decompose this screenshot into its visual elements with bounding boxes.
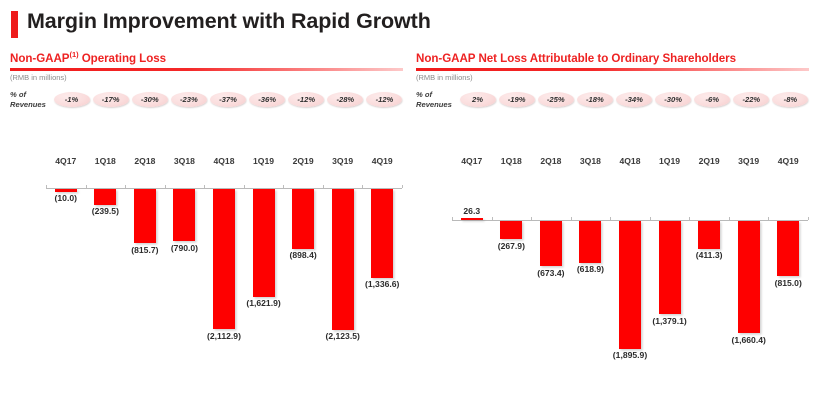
quarter-label-row-right: 4Q171Q182Q183Q184Q181Q192Q193Q194Q19 <box>416 156 816 170</box>
bar-left-4q17 <box>55 189 77 192</box>
pct-badge-right-4q19: -8% <box>772 92 808 107</box>
bar-value-left-3q18: (790.0) <box>151 243 217 253</box>
bar-right-4q19 <box>777 221 799 276</box>
bar-value-left-4q17: (10.0) <box>33 193 99 203</box>
axis-tick <box>531 217 532 220</box>
footnote-marker: (1) <box>70 50 79 59</box>
pct-badge-right-4q17: 2% <box>460 92 496 107</box>
bar-left-2q18 <box>134 189 156 243</box>
panel-units-operating-loss: (RMB in millions) <box>10 73 67 82</box>
quarter-label-3q18: 3Q18 <box>571 156 611 166</box>
axis-tick <box>808 217 809 220</box>
panel-title-main: Non-GAAP Net Loss Attributable to Ordina… <box>416 52 736 65</box>
quarter-label-1q18: 1Q18 <box>492 156 532 166</box>
pct-badge-left-2q18: -30% <box>132 92 168 107</box>
axis-tick <box>729 217 730 220</box>
panel-title-main: Non-GAAP <box>10 52 70 65</box>
bar-right-4q18 <box>619 221 641 349</box>
pct-badge-left-4q18: -37% <box>210 92 246 107</box>
bar-value-left-1q18: (239.5) <box>72 206 138 216</box>
bar-value-left-4q19: (1,336.6) <box>349 279 415 289</box>
bar-left-4q19 <box>371 189 393 278</box>
axis-tick <box>452 217 453 220</box>
pct-badge-right-3q19: -22% <box>733 92 769 107</box>
pct-badge-row-left: -1%-17%-30%-23%-37%-36%-12%-28%-12% <box>52 90 404 110</box>
quarter-label-4q17: 4Q17 <box>452 156 492 166</box>
quarter-label-2q19: 2Q19 <box>689 156 729 166</box>
bar-left-2q19 <box>292 189 314 249</box>
quarter-label-4q18: 4Q18 <box>204 156 244 166</box>
axis-tick <box>165 185 166 188</box>
title-accent-bar <box>11 11 18 38</box>
panel-title-net-loss: Non-GAAP Net Loss Attributable to Ordina… <box>416 52 736 65</box>
bar-right-4q17 <box>461 218 483 221</box>
pct-label-line1: % of <box>10 90 26 99</box>
bar-left-3q19 <box>332 189 354 330</box>
bar-value-left-4q18: (2,112.9) <box>191 331 257 341</box>
page-title: Margin Improvement with Rapid Growth <box>27 9 431 34</box>
pct-badge-right-1q19: -30% <box>655 92 691 107</box>
axis-tick <box>86 185 87 188</box>
quarter-label-4q19: 4Q19 <box>362 156 402 166</box>
axis-tick <box>650 217 651 220</box>
pct-badge-right-2q18: -25% <box>538 92 574 107</box>
quarter-label-2q18: 2Q18 <box>125 156 165 166</box>
panel-title-rest: Operating Loss <box>79 52 167 65</box>
bar-value-right-4q18: (1,895.9) <box>597 350 663 360</box>
pct-of-revenues-label-right: % of Revenues <box>416 90 452 110</box>
bar-value-left-1q19: (1,621.9) <box>231 298 297 308</box>
pct-badge-left-4q19: -12% <box>366 92 402 107</box>
bar-right-2q18 <box>540 221 562 266</box>
quarter-label-1q19: 1Q19 <box>244 156 284 166</box>
bar-value-right-4q17: 26.3 <box>439 206 505 216</box>
pct-badge-right-2q19: -6% <box>694 92 730 107</box>
bar-left-4q18 <box>213 189 235 329</box>
bar-right-2q19 <box>698 221 720 249</box>
pct-label-line2: Revenues <box>416 100 452 109</box>
axis-tick <box>204 185 205 188</box>
panel-operating-loss: Non-GAAP(1) Operating Loss (RMB in milli… <box>10 52 410 402</box>
bar-right-1q18 <box>500 221 522 239</box>
panel-units-net-loss: (RMB in millions) <box>416 73 473 82</box>
quarter-label-2q19: 2Q19 <box>283 156 323 166</box>
quarter-label-2q18: 2Q18 <box>531 156 571 166</box>
slide-header: Margin Improvement with Rapid Growth <box>0 0 827 46</box>
pct-badge-left-3q18: -23% <box>171 92 207 107</box>
panel-title-operating-loss: Non-GAAP(1) Operating Loss <box>10 52 166 65</box>
pct-badge-right-3q18: -18% <box>577 92 613 107</box>
quarter-label-3q19: 3Q19 <box>323 156 363 166</box>
quarter-label-4q17: 4Q17 <box>46 156 86 166</box>
axis-tick <box>689 217 690 220</box>
pct-badge-row-right: 2%-19%-25%-18%-34%-30%-6%-22%-8% <box>458 90 810 110</box>
pct-badge-left-1q18: -17% <box>93 92 129 107</box>
bar-value-right-2q19: (411.3) <box>676 250 742 260</box>
bar-value-right-4q19: (815.0) <box>755 278 821 288</box>
quarter-label-3q18: 3Q18 <box>165 156 205 166</box>
axis-tick <box>46 185 47 188</box>
bar-value-right-3q19: (1,660.4) <box>716 335 782 345</box>
quarter-label-4q19: 4Q19 <box>768 156 808 166</box>
panel-title-underline <box>10 68 403 71</box>
bar-value-right-1q19: (1,379.1) <box>637 316 703 326</box>
bar-left-1q19 <box>253 189 275 297</box>
bar-value-right-3q18: (618.9) <box>557 264 623 274</box>
quarter-label-4q18: 4Q18 <box>610 156 650 166</box>
axis-tick <box>244 185 245 188</box>
bar-value-left-3q19: (2,123.5) <box>310 331 376 341</box>
pct-badge-right-4q18: -34% <box>616 92 652 107</box>
bar-left-3q18 <box>173 189 195 241</box>
pct-badge-right-1q18: -19% <box>499 92 535 107</box>
bar-value-left-2q19: (898.4) <box>270 250 336 260</box>
pct-badge-left-2q19: -12% <box>288 92 324 107</box>
panel-net-loss: Non-GAAP Net Loss Attributable to Ordina… <box>416 52 816 402</box>
quarter-label-1q19: 1Q19 <box>650 156 690 166</box>
quarter-label-3q19: 3Q19 <box>729 156 769 166</box>
bar-value-right-1q18: (267.9) <box>478 241 544 251</box>
pct-badge-left-1q19: -36% <box>249 92 285 107</box>
pct-label-line2: Revenues <box>10 100 46 109</box>
quarter-label-1q18: 1Q18 <box>86 156 126 166</box>
quarter-label-row-left: 4Q171Q182Q183Q184Q181Q192Q193Q194Q19 <box>10 156 410 170</box>
axis-tick <box>362 185 363 188</box>
axis-tick <box>768 217 769 220</box>
bar-right-3q18 <box>579 221 601 263</box>
pct-label-line1: % of <box>416 90 432 99</box>
pct-of-revenues-label-left: % of Revenues <box>10 90 46 110</box>
axis-tick <box>610 217 611 220</box>
chart-operating-loss: 4Q171Q182Q183Q184Q181Q192Q193Q194Q19(10.… <box>10 156 410 402</box>
axis-tick <box>125 185 126 188</box>
axis-tick <box>323 185 324 188</box>
axis-tick <box>283 185 284 188</box>
bar-left-1q18 <box>94 189 116 205</box>
axis-tick <box>402 185 403 188</box>
pct-badge-left-4q17: -1% <box>54 92 90 107</box>
panel-title-underline <box>416 68 809 71</box>
chart-net-loss: 4Q171Q182Q183Q184Q181Q192Q193Q194Q1926.3… <box>416 156 816 402</box>
pct-badge-left-3q19: -28% <box>327 92 363 107</box>
bar-right-1q19 <box>659 221 681 314</box>
axis-tick <box>492 217 493 220</box>
axis-tick <box>571 217 572 220</box>
